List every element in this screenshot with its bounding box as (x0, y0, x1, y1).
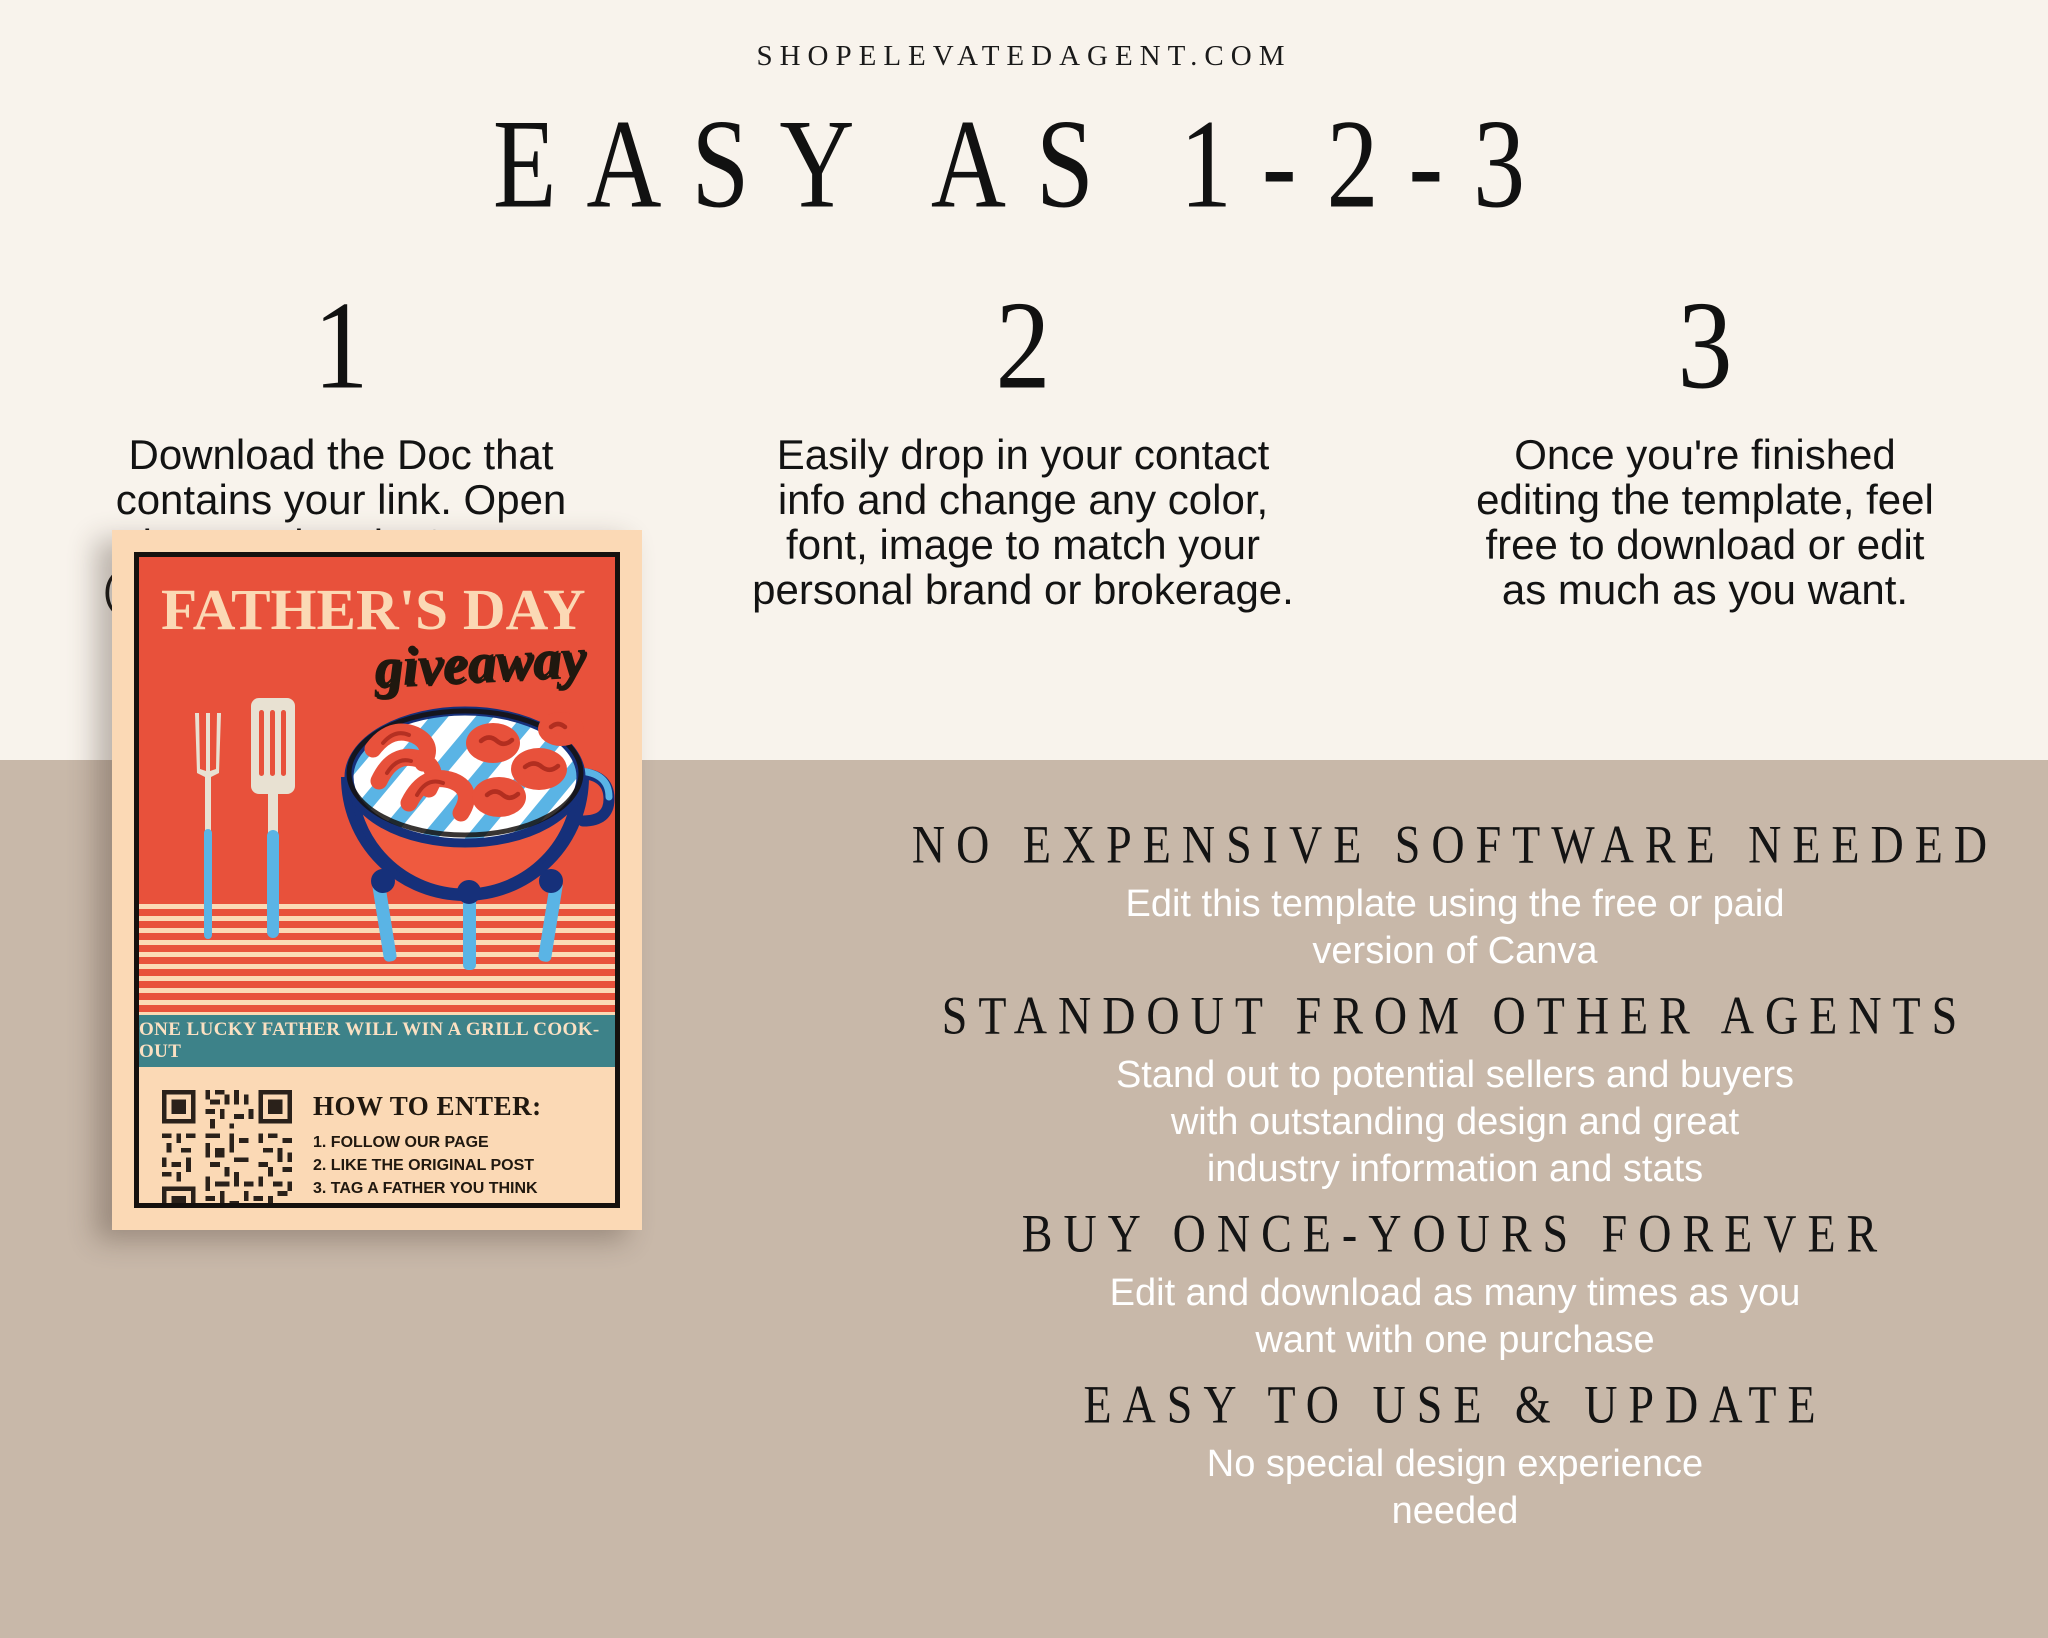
feature-2: STANDOUT FROM OTHER AGENTS Stand out to … (900, 983, 2010, 1193)
feature-1-desc: Edit this template using the free or pai… (900, 881, 2010, 975)
poster-artwork-panel: FATHER'S DAY giveaway (139, 557, 615, 1015)
site-url-text: SHOPELEVATEDAGENT.COM (0, 40, 2048, 73)
feature-4: EASY TO USE & UPDATE No special design e… (900, 1372, 2010, 1535)
feature-3-desc: Edit and download as many times as you w… (900, 1270, 2010, 1364)
entry-instructions: HOW TO ENTER: 1. FOLLOW OUR PAGE 2. LIKE… (313, 1085, 599, 1208)
feature-4-desc: No special design experience needed (900, 1441, 2010, 1535)
step-1-number: 1 (0, 285, 682, 406)
poster-entry-section: HOW TO ENTER: 1. FOLLOW OUR PAGE 2. LIKE… (139, 1067, 615, 1208)
step-2: 2 Easily drop in your contact info and c… (682, 285, 1364, 612)
how-to-enter-heading: HOW TO ENTER: (313, 1091, 599, 1122)
grill-illustration (317, 685, 615, 985)
feature-3-title: BUY ONCE-YOURS FOREVER (900, 1201, 2010, 1267)
poster-frame: FATHER'S DAY giveaway ONE LUCKY FATHER W… (112, 530, 642, 1230)
feature-2-title: STANDOUT FROM OTHER AGENTS (900, 983, 2010, 1049)
poster-inner-border: FATHER'S DAY giveaway ONE LUCKY FATHER W… (134, 552, 620, 1208)
page-headline: EASY AS 1-2-3 (0, 92, 2048, 237)
features-list: NO EXPENSIVE SOFTWARE NEEDED Edit this t… (900, 812, 2010, 1543)
step-2-number: 2 (682, 285, 1364, 406)
feature-2-desc: Stand out to potential sellers and buyer… (900, 1052, 2010, 1193)
poster-banner-text: ONE LUCKY FATHER WILL WIN A GRILL COOK-O… (139, 1019, 615, 1063)
feature-1-title: NO EXPENSIVE SOFTWARE NEEDED (900, 812, 2010, 878)
feature-4-title: EASY TO USE & UPDATE (900, 1372, 2010, 1438)
step-2-text: Easily drop in your contact info and cha… (682, 432, 1364, 612)
poster-banner: ONE LUCKY FATHER WILL WIN A GRILL COOK-O… (139, 1015, 615, 1067)
step-3-text: Once you're finished editing the templat… (1364, 432, 2046, 612)
grill-fork-icon (191, 711, 225, 941)
poster-script-word: giveaway (372, 630, 586, 697)
step-3-number: 3 (1364, 285, 2046, 406)
grill-spatula-icon (249, 696, 297, 941)
poster-preview[interactable]: FATHER'S DAY giveaway ONE LUCKY FATHER W… (112, 530, 642, 1230)
step-3: 3 Once you're finished editing the templ… (1364, 285, 2046, 612)
qr-code-icon[interactable] (157, 1085, 297, 1208)
feature-1: NO EXPENSIVE SOFTWARE NEEDED Edit this t… (900, 812, 2010, 975)
feature-3: BUY ONCE-YOURS FOREVER Edit and download… (900, 1201, 2010, 1364)
entry-steps-list: 1. FOLLOW OUR PAGE 2. LIKE THE ORIGINAL … (313, 1131, 599, 1208)
